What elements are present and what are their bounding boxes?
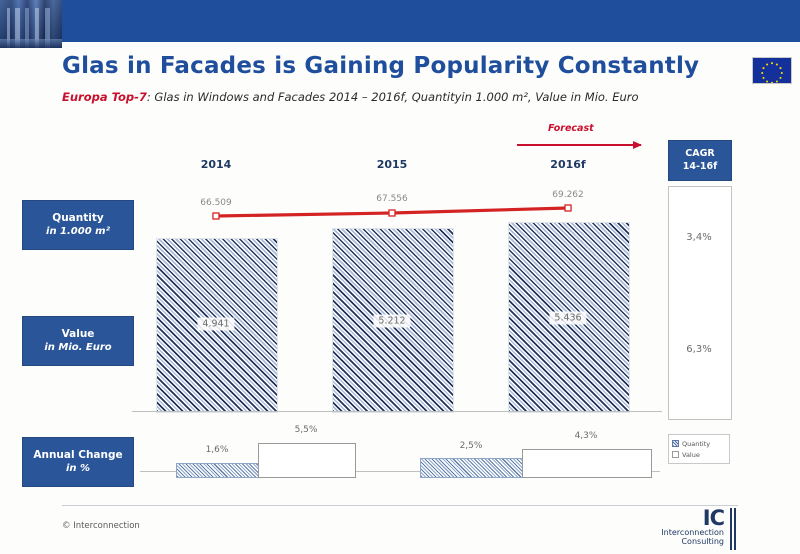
eu-stars-icon bbox=[753, 58, 791, 83]
side-label-value: Value in Mio. Euro bbox=[22, 316, 134, 366]
chart-baseline bbox=[132, 411, 662, 412]
annual-change-quantity-label-2015: 1,6% bbox=[206, 445, 229, 455]
side-label-value-title: Value bbox=[62, 327, 95, 341]
chart-legend: Quantity Value bbox=[668, 434, 730, 464]
logo-bars-icon bbox=[728, 508, 736, 550]
slide-canvas: Glas in Facades is Gaining Popularity Co… bbox=[0, 0, 800, 554]
quantity-label-2015: 67.556 bbox=[376, 194, 408, 204]
annual-change-quantity-2016f bbox=[420, 458, 524, 478]
annual-change-quantity-2015 bbox=[176, 463, 260, 478]
side-label-value-unit: in Mio. Euro bbox=[44, 341, 111, 355]
subtitle-rest: : Glas in Windows and Facades 2014 – 201… bbox=[147, 90, 639, 104]
eu-flag-icon bbox=[752, 57, 792, 84]
page-title: Glas in Facades is Gaining Popularity Co… bbox=[62, 53, 722, 79]
logo-name-line2: Consulting bbox=[681, 537, 724, 546]
company-logo: IC Interconnection Consulting bbox=[618, 506, 738, 548]
side-label-annual-change: Annual Change in % bbox=[22, 437, 134, 487]
value-label-2015: 5.212 bbox=[373, 315, 410, 328]
cagr-panel bbox=[668, 186, 732, 420]
side-label-annual-change-unit: in % bbox=[66, 462, 90, 476]
legend-item-quantity[interactable]: Quantity bbox=[672, 438, 726, 449]
annual-change-value-label-2015: 5,5% bbox=[295, 425, 318, 435]
legend-label-quantity: Quantity bbox=[682, 440, 710, 448]
page-subtitle: Europa Top-7: Glas in Windows and Facade… bbox=[62, 90, 752, 104]
annual-change-value-2016f bbox=[522, 449, 652, 478]
side-label-quantity: Quantity in 1.000 m² bbox=[22, 200, 134, 250]
side-label-annual-change-title: Annual Change bbox=[33, 448, 122, 462]
annual-change-value-2015 bbox=[258, 443, 356, 478]
legend-item-value[interactable]: Value bbox=[672, 449, 726, 460]
year-label-2014: 2014 bbox=[156, 158, 276, 171]
forecast-arrow-icon bbox=[517, 144, 641, 146]
forecast-label: Forecast bbox=[548, 123, 594, 134]
quantity-label-2014: 66.509 bbox=[200, 198, 232, 208]
cagr-value-quantity: 3,4% bbox=[668, 232, 730, 243]
cagr-value-value: 6,3% bbox=[668, 344, 730, 355]
logo-name-line1: Interconnection bbox=[661, 528, 724, 537]
side-label-quantity-unit: in 1.000 m² bbox=[46, 225, 110, 239]
year-label-2016f: 2016f bbox=[508, 158, 628, 171]
skyline-thumbnail-image bbox=[0, 0, 62, 48]
header-band bbox=[0, 0, 800, 42]
annual-change-quantity-label-2016f: 2,5% bbox=[460, 441, 483, 451]
value-label-2016f: 5.436 bbox=[549, 312, 586, 325]
cagr-header-line1: CAGR bbox=[685, 148, 714, 160]
footer-copyright: © Interconnection bbox=[62, 521, 140, 531]
cagr-header-line2: 14-16f bbox=[683, 161, 718, 173]
subtitle-highlight: Europa Top-7 bbox=[62, 90, 147, 104]
legend-swatch-quantity-icon bbox=[672, 440, 679, 447]
legend-label-value: Value bbox=[682, 451, 700, 459]
value-label-2014: 4.941 bbox=[197, 318, 234, 331]
year-label-2015: 2015 bbox=[332, 158, 452, 171]
annual-change-chart: 1,6% 5,5% 2,5% 4,3% bbox=[132, 428, 662, 478]
logo-mark: IC bbox=[703, 506, 724, 530]
side-label-quantity-title: Quantity bbox=[52, 211, 103, 225]
cagr-header: CAGR 14-16f bbox=[668, 140, 732, 181]
quantity-label-2016f: 69.262 bbox=[552, 190, 584, 200]
legend-swatch-value-icon bbox=[672, 451, 679, 458]
annual-change-value-label-2016f: 4,3% bbox=[575, 431, 598, 441]
